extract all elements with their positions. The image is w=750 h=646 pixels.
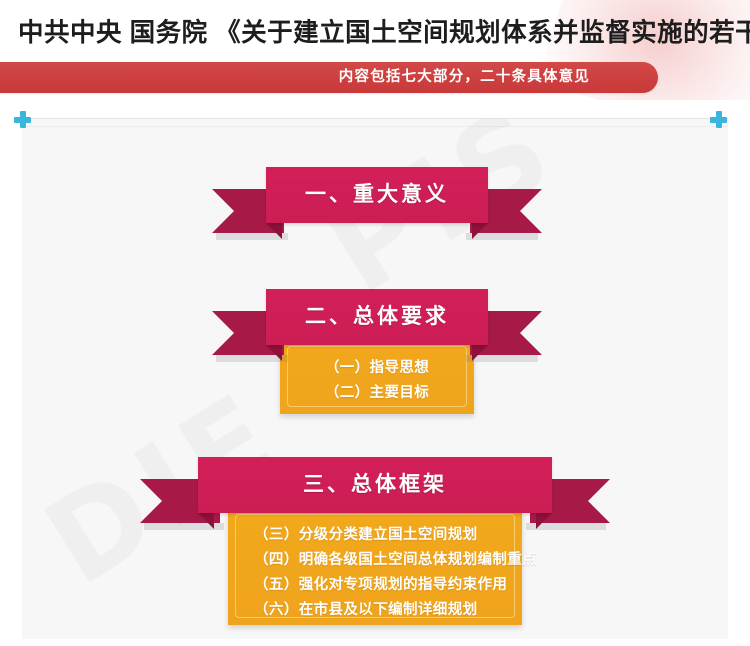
ribbon-face-2: 二、总体要求 [266, 289, 488, 345]
ribbon-2: 二、总体要求 [212, 289, 542, 369]
ribbon-1: 一、重大意义 [212, 167, 542, 247]
section-title-2: 二、总体要求 [266, 289, 488, 345]
section-title-1: 一、重大意义 [266, 167, 488, 223]
page-header: 中共中央 国务院 《关于建立国土空间规划体系并监督实施的若干意见》 内容包括七大… [0, 0, 750, 100]
section-block-3: （三）分级分类建立国土空间规划 （四）明确各级国土空间总体规划编制重点 （五）强… [140, 457, 610, 627]
subtitle-banner: 内容包括七大部分，二十条具体意见 [0, 62, 658, 93]
section-block-2: （一）指导思想 （二）主要目标 二、总体要求 [212, 289, 542, 414]
cross-marker-icon-left [14, 111, 31, 128]
panel-divider [22, 126, 728, 127]
list-item: （二）主要目标 [280, 381, 474, 402]
content-panel: DIE PIS 一、重大意义 （一）指导思想 （二）主要目标 [22, 118, 728, 639]
ribbon-3: 三、总体框架 [140, 457, 610, 537]
ribbon-face-3: 三、总体框架 [198, 457, 552, 513]
cross-marker-icon-right [710, 111, 727, 128]
section-title-3: 三、总体框架 [198, 457, 552, 513]
list-item: （五）强化对专项规划的指导约束作用 [254, 573, 522, 594]
list-item: （四）明确各级国土空间总体规划编制重点 [254, 548, 522, 569]
list-item: （六）在市县及以下编制详细规划 [254, 598, 522, 619]
ribbon-face-1: 一、重大意义 [266, 167, 488, 223]
subtitle-text: 内容包括七大部分，二十条具体意见 [339, 62, 590, 93]
page-title: 中共中央 国务院 《关于建立国土空间规划体系并监督实施的若干意见》 [18, 16, 732, 50]
section-block-1: 一、重大意义 [212, 167, 542, 247]
section-3-item-list: （三）分级分类建立国土空间规划 （四）明确各级国土空间总体规划编制重点 （五）强… [254, 523, 522, 619]
